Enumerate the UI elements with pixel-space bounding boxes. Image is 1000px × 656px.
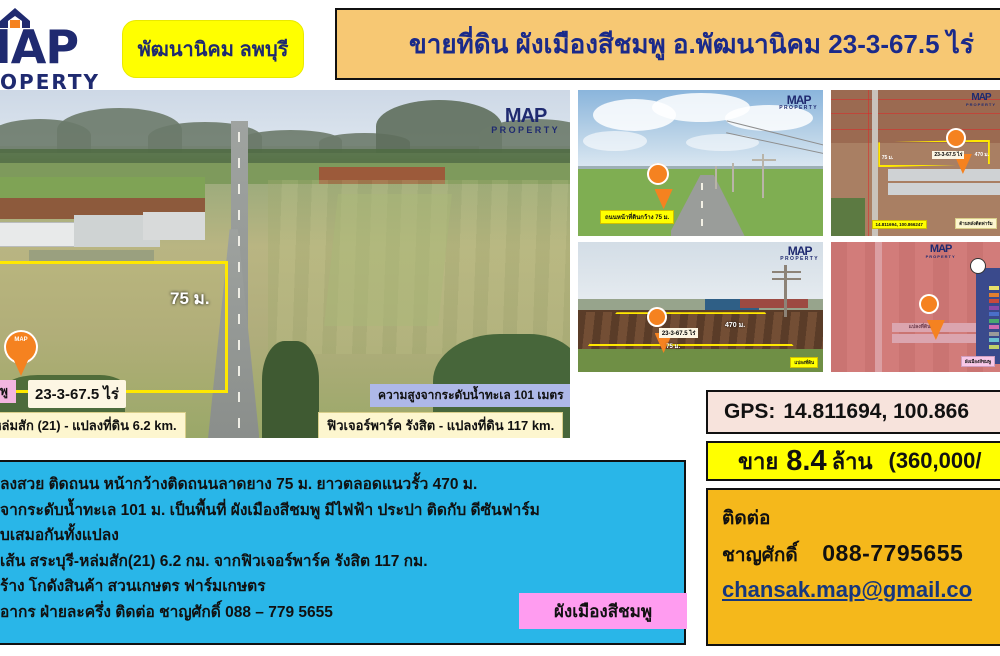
contact-name: ชาญศักดิ์ <box>722 545 798 566</box>
listing-poster: MAP PROPERTY พัฒนานิคม ลพบุรี ขายที่ดิน … <box>0 0 1000 656</box>
contact-name-phone: ชาญศักดิ์ 088-7795655 <box>722 536 1000 573</box>
distance-caption-right: ฟิวเจอร์พาร์ค รังสิต - แปลงที่ดิน 117 km… <box>318 412 563 438</box>
watermark: MAP PROPERTY <box>779 94 818 111</box>
bottom-edge <box>0 650 1000 656</box>
zoning-caption: ผังเมืองสีชมพู <box>961 356 995 367</box>
location-pin-marker <box>647 163 669 193</box>
watermark-sub: PROPERTY <box>780 257 819 262</box>
watermark-sub: PROPERTY <box>926 255 956 259</box>
roadside-photo[interactable]: ถนนหน้าที่ดินกว้าง 75 ม. MAP PROPERTY <box>578 90 823 236</box>
header: MAP PROPERTY พัฒนานิคม ลพบุรี ขายที่ดิน … <box>0 0 1000 88</box>
description-line: บเสมอกันทั้งแปลง <box>0 523 672 549</box>
plot-length-label: 470 ม. <box>975 151 989 159</box>
price-bar: ขาย 8.4 ล้าน (360,000/ <box>706 441 1000 481</box>
location-pin-marker <box>919 294 939 320</box>
satellite-caption-left: 14.811694, 100.866247 <box>872 220 927 229</box>
gps-label: GPS: <box>724 400 775 424</box>
plot-area-label: 23-3-67.5 ไร่ <box>932 151 964 159</box>
page-title: ขายที่ดิน ผังเมืองสีชมพู อ.พัฒนานิคม 23-… <box>409 24 974 65</box>
roof-icon <box>0 8 30 28</box>
distance-caption-left: - หล่มสัก (21) - แปลงที่ดิน 6.2 km. <box>0 412 186 438</box>
plot-width-label: 75 ม. <box>666 341 680 351</box>
logo-wordmark: MAP <box>0 24 134 70</box>
location-pin-marker: MAP <box>4 330 38 376</box>
description-line: เส้น สระบุรี-หล่มสัก(21) 6.2 กม. จากฟิวเ… <box>0 549 672 575</box>
watermark-sub: PROPERTY <box>491 126 560 135</box>
price-amount: 8.4 <box>786 445 826 478</box>
pin-label: MAP <box>10 337 32 343</box>
watermark: MAP PROPERTY <box>491 106 560 135</box>
district-badge: พัฒนานิคม ลพบุรี <box>122 20 304 78</box>
zoning-map-photo[interactable]: แปลงที่ดิน ผังเมืองสีชมพู MAP PROPERTY <box>831 242 1000 372</box>
zone-tag-label: ผังเมืองสีชมพู <box>554 598 652 625</box>
contact-heading: ติดต่อ <box>722 502 1000 536</box>
gps-value: 14.811694, 100.866 <box>783 400 969 424</box>
district-badge-label: พัฒนานิคม ลพบุรี <box>138 33 289 65</box>
photo-grid: MAP 23-3-67.5 ไร่ 75 ม. MAP PROPERTY ชมพ… <box>0 90 1000 440</box>
location-pin-marker <box>946 128 966 154</box>
satellite-caption-right: ด้านหลังติดฟาร์ม <box>955 218 996 229</box>
field-photo-caption: แปลงที่ดิน <box>790 357 818 368</box>
road-photo-caption: ถนนหน้าที่ดินกว้าง 75 ม. <box>600 210 674 224</box>
plot-length-label: 470 ม. <box>725 320 745 331</box>
zoning-center-label: แปลงที่ดิน <box>909 323 931 331</box>
description-line: ลงสวย ติดถนน หน้ากว้างติดถนนลาดยาง 75 ม.… <box>0 472 672 498</box>
hills-region <box>0 97 570 153</box>
grass-region <box>578 349 823 372</box>
plot-area-label: 23-3-67.5 ไร่ <box>28 380 126 408</box>
map-property-logo: MAP PROPERTY <box>0 2 134 86</box>
field-ground-photo[interactable]: 23-3-67.5 ไร่ 75 ม. 470 ม. แปลงที่ดิน MA… <box>578 242 823 372</box>
watermark: MAP PROPERTY <box>966 93 996 107</box>
watermark-sub: PROPERTY <box>779 106 818 111</box>
plot-width-label: 75 ม. <box>882 154 894 162</box>
plot-width-label: 75 ม. <box>170 285 210 312</box>
title-bar: ขายที่ดิน ผังเมืองสีชมพู อ.พัฒนานิคม 23-… <box>335 8 1000 80</box>
price-per-unit: (360,000/ <box>889 448 982 474</box>
plot-area-label: 23-3-67.5 ไร่ <box>659 328 699 338</box>
satellite-map-photo[interactable]: 23-3-67.5 ไร่ 75 ม. 470 ม. 14.811694, 10… <box>831 90 1000 236</box>
gps-bar: GPS: 14.811694, 100.866 <box>706 390 1000 434</box>
description-line: จากระดับน้ำทะเล 101 ม. เป็นพื้นที่ ผังเม… <box>0 498 672 524</box>
price-unit: ล้าน <box>832 444 873 479</box>
watermark-mark: MAP <box>491 106 560 126</box>
price-label: ขาย <box>738 444 778 479</box>
watermark: MAP PROPERTY <box>926 244 956 259</box>
zone-chip: ชมพู <box>0 380 16 403</box>
contact-panel: ติดต่อ ชาญศักดิ์ 088-7795655 chansak.map… <box>706 488 1000 646</box>
contact-phone[interactable]: 088-7795655 <box>822 540 963 566</box>
contact-email[interactable]: chansak.map@gmail.co <box>722 573 1000 607</box>
watermark: MAP PROPERTY <box>780 245 819 262</box>
elevation-caption: ความสูงจากระดับน้ำทะเล 101 เมตร <box>370 384 570 407</box>
zone-tag: ผังเมืองสีชมพู <box>519 593 687 629</box>
aerial-main-photo[interactable]: MAP 23-3-67.5 ไร่ 75 ม. MAP PROPERTY ชมพ… <box>0 90 570 438</box>
compass-icon <box>970 258 986 274</box>
watermark-sub: PROPERTY <box>966 103 996 107</box>
